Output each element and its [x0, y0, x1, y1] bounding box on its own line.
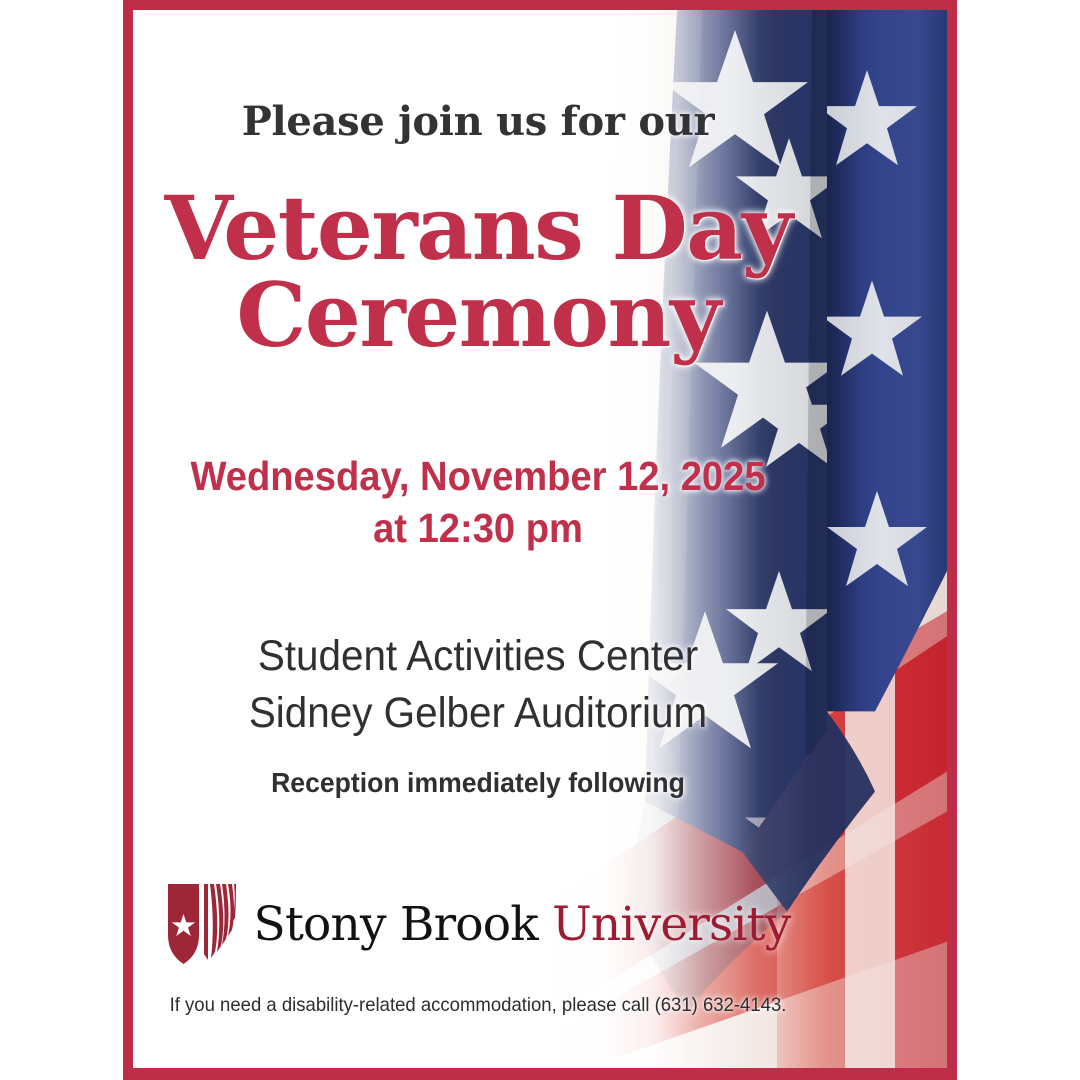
event-time: at 12:30 pm [157, 502, 799, 554]
kicker-text: Please join us for our [133, 98, 823, 145]
poster-content: Please join us for our Veterans Day Cere… [133, 10, 823, 1068]
event-datetime: Wednesday, November 12, 2025 at 12:30 pm [157, 450, 799, 555]
stony-brook-university-logo: Stony Brook University [133, 882, 823, 966]
event-date: Wednesday, November 12, 2025 [190, 453, 765, 499]
logo-name-primary: Stony Brook [254, 897, 553, 952]
reception-note: Reception immediately following [150, 767, 806, 799]
poster-canvas: Please join us for our Veterans Day Cere… [133, 10, 947, 1068]
accessibility-disclaimer: If you need a disability-related accommo… [150, 994, 806, 1017]
event-venue: Student Activities Center Sidney Gelber … [154, 628, 803, 742]
logo-wordmark: Stony Brook University [254, 901, 791, 948]
headline-line-2: Ceremony [133, 272, 823, 359]
poster-frame: Please join us for our Veterans Day Cere… [123, 0, 957, 1080]
stony-brook-shield-icon [166, 882, 238, 966]
logo-name-secondary: University [552, 897, 790, 952]
page-title: Veterans Day Ceremony [133, 185, 823, 359]
flag-stars-right [817, 10, 947, 711]
venue-line-2: Sidney Gelber Auditorium [154, 685, 803, 742]
venue-line-1: Student Activities Center [258, 632, 698, 680]
